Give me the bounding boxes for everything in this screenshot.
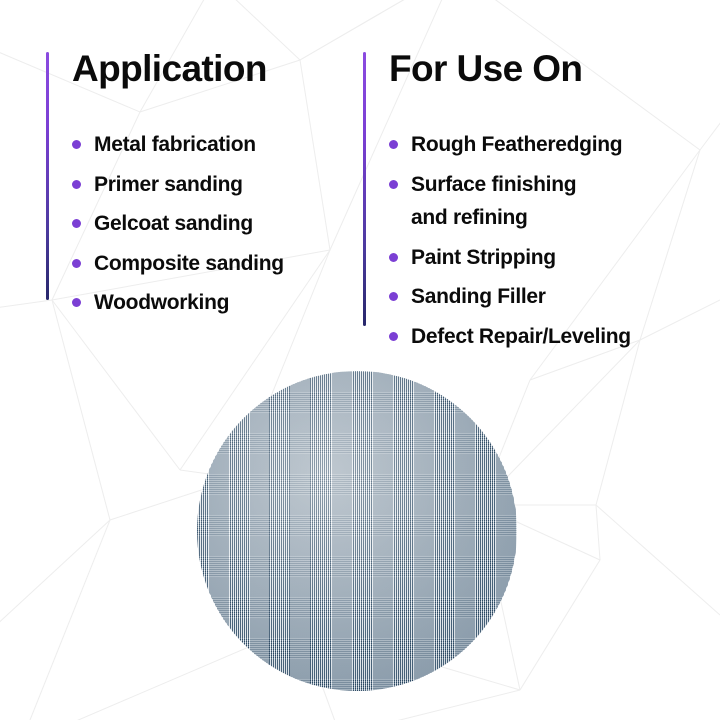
disc-mesh-surface [197,371,517,691]
column-title-for-use-on: For Use On [389,50,582,87]
list-item-continuation: and refining [389,201,631,235]
column-divider-left [46,52,49,300]
column-title-application: Application [72,50,267,87]
list-item: Gelcoat sanding [72,207,284,241]
list-item-label: Surface finishing [411,173,576,196]
list-item-label: Woodworking [94,291,229,314]
list-item-label: and refining [411,206,528,229]
list-item: Paint Stripping [389,241,631,275]
list-item-label: Sanding Filler [411,285,546,308]
bullet-dot-icon [389,332,398,341]
list-item: Woodworking [72,286,284,320]
list-item-label: Paint Stripping [411,246,556,269]
bullet-dot-icon [72,298,81,307]
mesh-sanding-disc-image [197,371,517,691]
bullet-dot-icon [389,292,398,301]
bullet-dot-icon [72,180,81,189]
list-item: Primer sanding [72,168,284,202]
list-item: Rough Featheredging [389,128,631,162]
list-item: Defect Repair/Leveling [389,320,631,354]
list-item-label: Primer sanding [94,173,243,196]
list-item: Composite sanding [72,247,284,281]
list-item: Metal fabrication [72,128,284,162]
list-item: Surface finishing [389,168,631,202]
columns-container: Application Metal fabrication Primer san… [0,0,720,340]
bullet-dot-icon [72,219,81,228]
bullet-dot-icon [389,140,398,149]
bullet-list-application: Metal fabrication Primer sanding Gelcoat… [72,128,284,326]
bullet-dot-icon [389,253,398,262]
bullet-dot-icon [72,140,81,149]
bullet-list-for-use-on: Rough Featheredging Surface finishing an… [389,128,631,360]
bullet-dot-icon [72,259,81,268]
list-item-label: Composite sanding [94,252,284,275]
list-item-label: Metal fabrication [94,133,256,156]
list-item-label: Gelcoat sanding [94,212,253,235]
list-item-label: Defect Repair/Leveling [411,325,631,348]
product-info-graphic: Application Metal fabrication Primer san… [0,0,720,720]
bullet-dot-icon [389,180,398,189]
list-item: Sanding Filler [389,280,631,314]
column-divider-right [363,52,366,326]
list-item-label: Rough Featheredging [411,133,622,156]
